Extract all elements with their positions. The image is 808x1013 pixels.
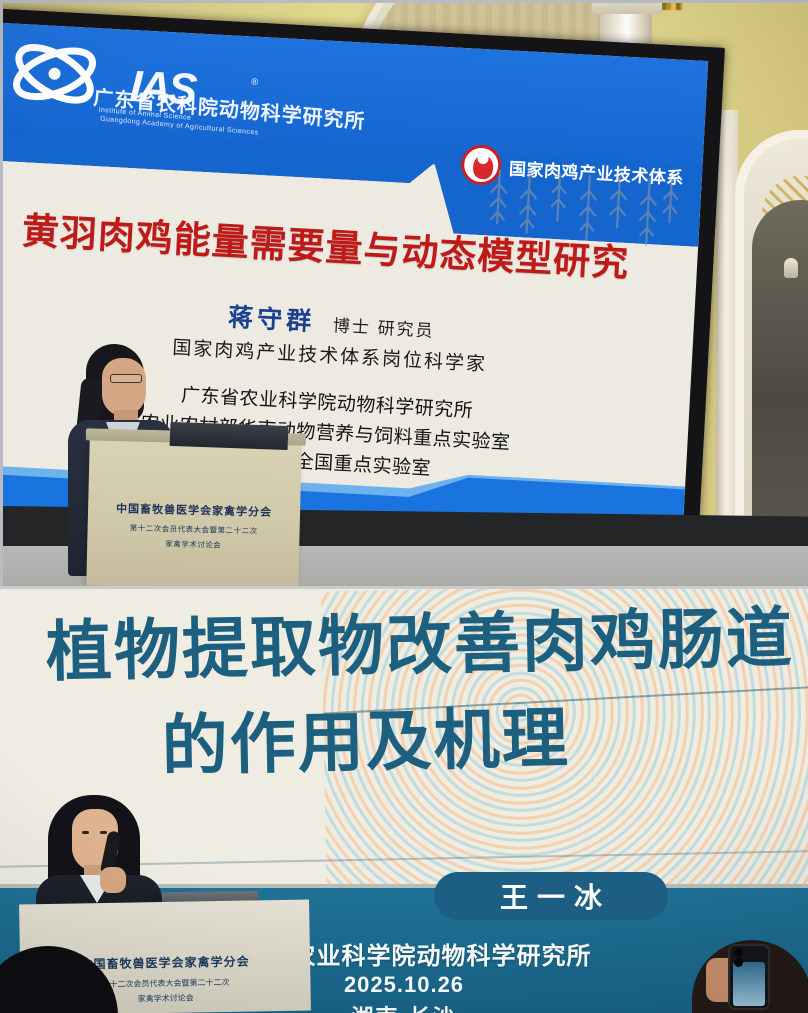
lectern-top: 中国畜牧兽医学会家禽学分会 第十二次会员代表大会暨第二十二次 家禽学术讨论会 bbox=[86, 437, 302, 588]
ias-logo-icon bbox=[7, 39, 107, 112]
eyeglasses-icon bbox=[110, 374, 142, 383]
speaker-2-name-pill: 王一冰 bbox=[434, 872, 668, 920]
lectern-sign-line-2: 第十二次会员代表大会暨第二十二次 bbox=[88, 521, 300, 537]
speaker-2-eye-right bbox=[100, 831, 107, 834]
photo-panel-top: IAS ® 广东省农科院动物科学研究所 Institute of Animal … bbox=[0, 0, 808, 588]
image-left-edge bbox=[0, 0, 3, 588]
lectern-sign-top: 中国畜牧兽医学会家禽学分会 第十二次会员代表大会暨第二十二次 家禽学术讨论会 bbox=[87, 499, 300, 552]
image-top-edge bbox=[0, 0, 808, 3]
speaker-face bbox=[102, 358, 146, 416]
photo-collage: IAS ® 广东省农科院动物科学研究所 Institute of Animal … bbox=[0, 0, 808, 1013]
registered-mark: ® bbox=[251, 76, 258, 86]
lectern-sign-line-3: 家禽学术讨论会 bbox=[87, 536, 299, 552]
speaker-2-eye-left bbox=[82, 831, 89, 834]
speaker-name: 蒋守群 bbox=[227, 304, 315, 337]
speaker-2-name: 王一冰 bbox=[491, 876, 611, 916]
alcove-recess bbox=[752, 200, 808, 560]
camera-lens-icon bbox=[734, 948, 743, 957]
alcove-lamp bbox=[784, 258, 798, 278]
smartphone-screen bbox=[733, 962, 765, 1006]
slide2-title-line-1: 植物提取物改善肉鸡肠道 bbox=[45, 604, 808, 685]
speaker-degree: 博士 研究员 bbox=[332, 316, 435, 340]
ias-logo: IAS ® 广东省农科院动物科学研究所 Institute of Animal … bbox=[5, 37, 340, 151]
speaker-2-hand bbox=[100, 867, 126, 893]
lectern-sign-line-1: 中国畜牧兽医学会家禽学分会 bbox=[88, 499, 300, 520]
collage-split-line bbox=[0, 586, 808, 589]
laptop-top bbox=[170, 422, 289, 450]
